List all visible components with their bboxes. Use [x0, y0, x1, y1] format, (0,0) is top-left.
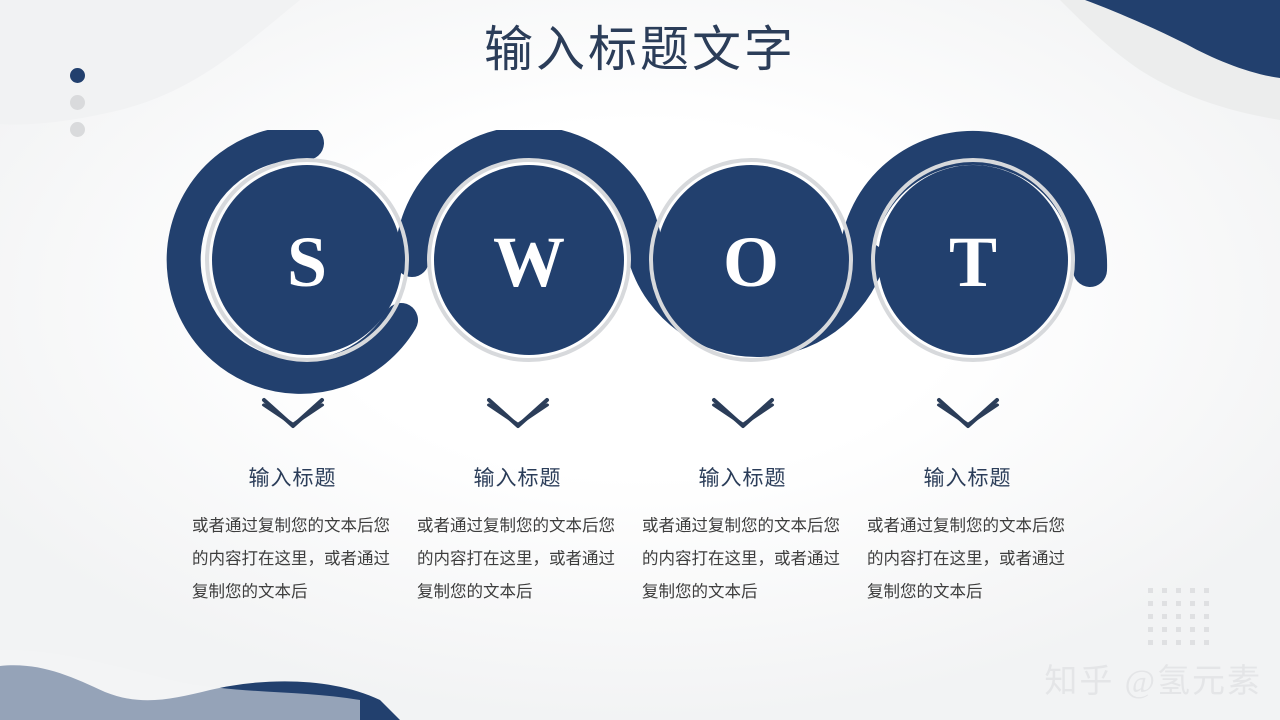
swot-letter-w: W: [493, 222, 565, 302]
swot-letter-t: T: [949, 222, 997, 302]
column-body: 或者通过复制您的文本后您的内容打在这里，或者通过复制您的文本后: [859, 509, 1076, 608]
watermark: 知乎 @氢元素: [1044, 654, 1262, 702]
content-column-1: 输入标题 或者通过复制您的文本后您的内容打在这里，或者通过复制您的文本后: [180, 462, 405, 608]
nav-dot-2[interactable]: [70, 95, 85, 110]
content-column-4: 输入标题 或者通过复制您的文本后您的内容打在这里，或者通过复制您的文本后: [855, 462, 1080, 608]
wave-bottom-left-grey: [0, 650, 360, 720]
chevron-cell-1: [180, 392, 405, 436]
chevron-cell-4: [855, 392, 1080, 436]
page-title: 输入标题文字: [0, 22, 1280, 78]
chevron-down-icon: [933, 392, 1003, 436]
nav-dot-column: [70, 68, 85, 137]
swot-letter-o: O: [723, 222, 779, 302]
column-body: 或者通过复制您的文本后您的内容打在这里，或者通过复制您的文本后: [634, 509, 851, 608]
chevron-down-icon: [483, 392, 553, 436]
swot-diagram: S W O T: [160, 130, 1120, 400]
column-title: 输入标题: [859, 462, 1076, 492]
slide-canvas: 输入标题文字: [0, 0, 1280, 720]
swot-letter-s: S: [287, 222, 327, 302]
content-column-3: 输入标题 或者通过复制您的文本后您的内容打在这里，或者通过复制您的文本后: [630, 462, 855, 608]
column-body: 或者通过复制您的文本后您的内容打在这里，或者通过复制您的文本后: [184, 509, 401, 608]
content-columns: 输入标题 或者通过复制您的文本后您的内容打在这里，或者通过复制您的文本后 输入标…: [180, 462, 1100, 608]
chevron-down-icon: [258, 392, 328, 436]
dot-grid-decoration: [1148, 588, 1218, 653]
content-column-2: 输入标题 或者通过复制您的文本后您的内容打在这里，或者通过复制您的文本后: [405, 462, 630, 608]
chevron-cell-3: [630, 392, 855, 436]
nav-dot-3[interactable]: [70, 122, 85, 137]
column-title: 输入标题: [634, 462, 851, 492]
chevron-down-icon: [708, 392, 778, 436]
column-title: 输入标题: [409, 462, 626, 492]
chevron-cell-2: [405, 392, 630, 436]
wave-bottom-left-navy: [0, 665, 400, 720]
column-title: 输入标题: [184, 462, 401, 492]
chevron-row: [180, 392, 1100, 436]
column-body: 或者通过复制您的文本后您的内容打在这里，或者通过复制您的文本后: [409, 509, 626, 608]
